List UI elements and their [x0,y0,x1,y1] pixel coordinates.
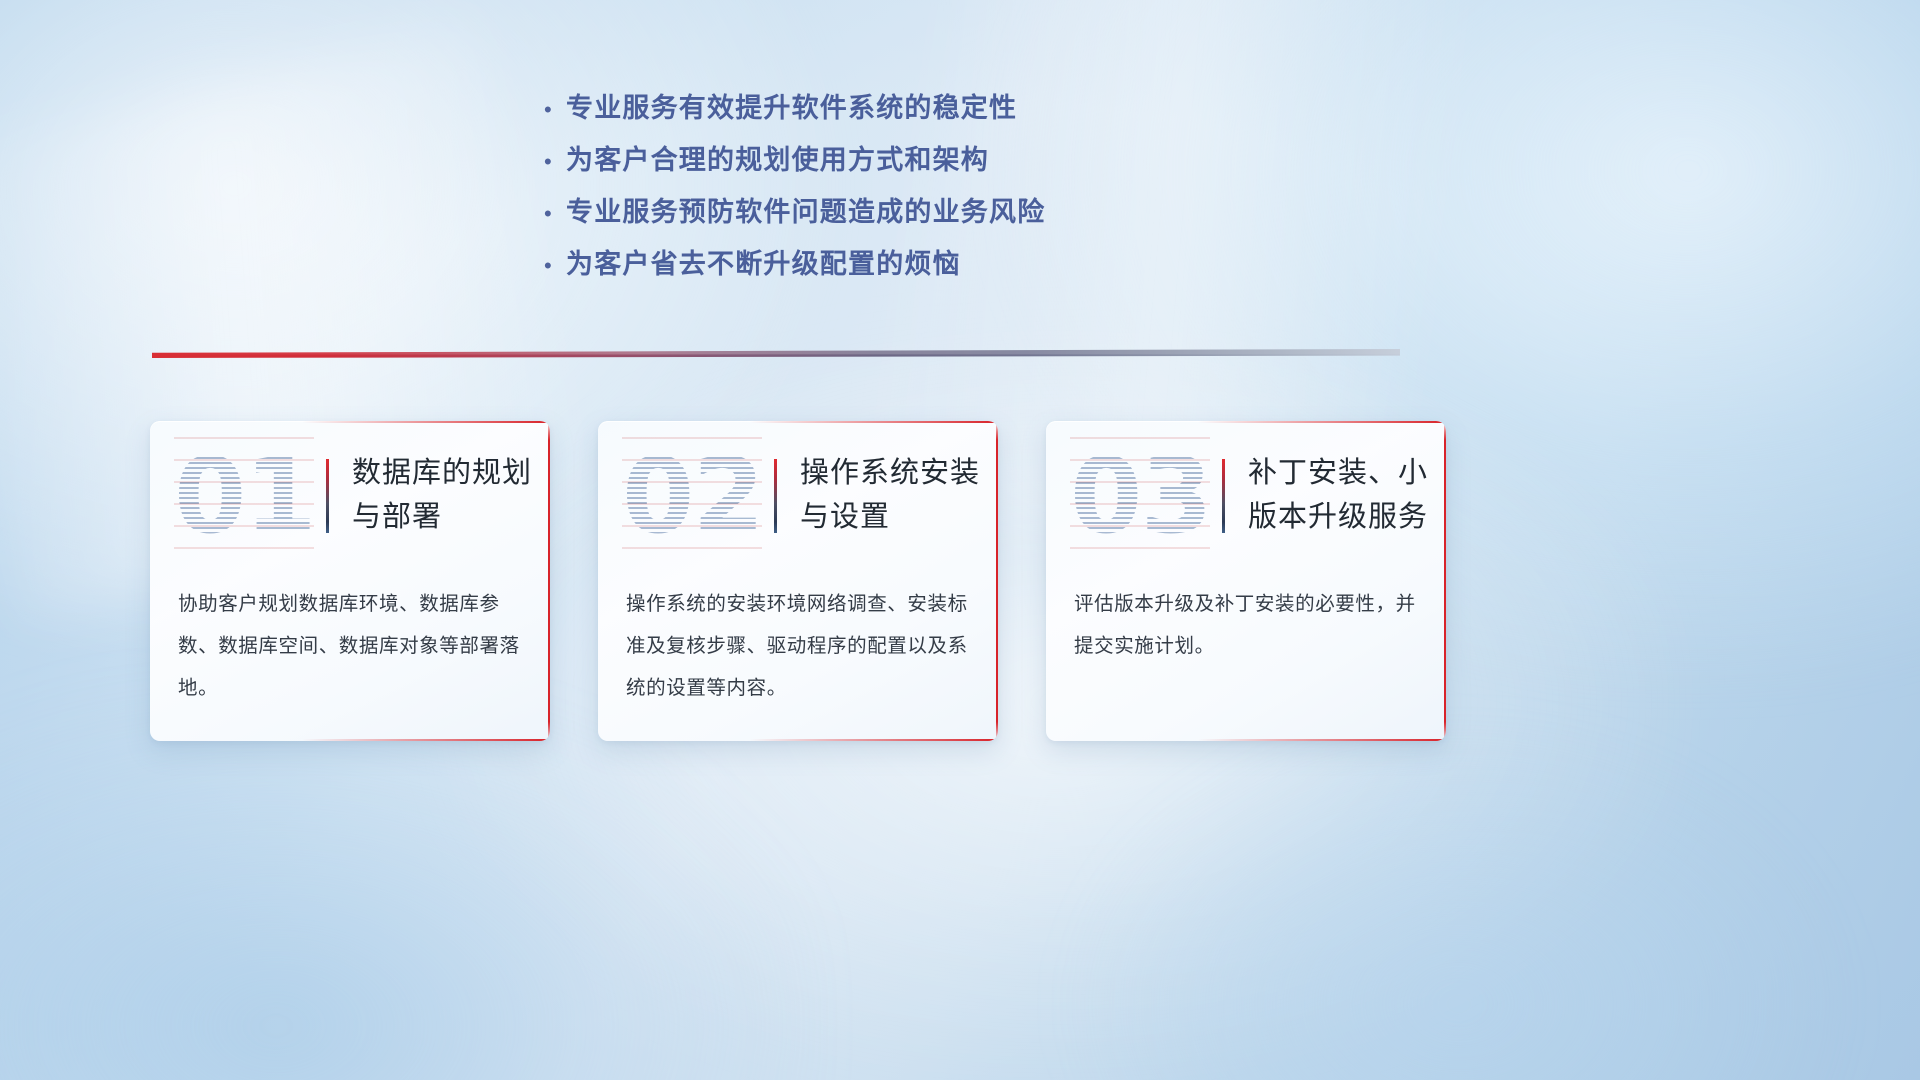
card-header: 03 补丁安装、小版本升级服务 [1046,421,1446,573]
bullet-item: • 为客户合理的规划使用方式和架构 [540,138,1240,190]
card-description: 操作系统的安装环境网络调查、安装标准及复核步骤、驱动程序的配置以及系统的设置等内… [626,583,970,709]
bullet-marker-icon: • [540,255,566,277]
card-description: 评估版本升级及补丁安装的必要性，并提交实施计划。 [1074,583,1418,667]
bullet-marker-icon: • [540,151,566,173]
card-title: 操作系统安装与设置 [800,451,986,539]
service-card-list: 01 数据库的规划与部署 协助客户规划数据库环境、数据库参数、数据库空间、数据库… [150,421,1446,741]
card-index-number: 03 [1070,437,1210,555]
card-index-number: 02 [622,437,762,555]
bullet-item-label: 专业服务有效提升软件系统的稳定性 [566,86,1017,125]
bullet-marker-icon: • [540,99,566,121]
service-card[interactable]: 03 补丁安装、小版本升级服务 评估版本升级及补丁安装的必要性，并提交实施计划。 [1046,421,1446,741]
card-index-number: 01 [174,437,314,555]
card-title-accent-bar [1222,459,1225,533]
card-title-accent-bar [774,459,777,533]
card-accent-border-bottom [1198,739,1446,741]
card-header: 02 操作系统安装与设置 [598,421,998,573]
benefits-bullet-list: • 专业服务有效提升软件系统的稳定性 • 为客户合理的规划使用方式和架构 • 专… [540,86,1240,294]
card-title: 数据库的规划与部署 [352,451,538,539]
service-card[interactable]: 01 数据库的规划与部署 协助客户规划数据库环境、数据库参数、数据库空间、数据库… [150,421,550,741]
card-title-accent-bar [326,459,329,533]
card-accent-border-bottom [302,739,550,741]
card-header: 01 数据库的规划与部署 [150,421,550,573]
bullet-item: • 为客户省去不断升级配置的烦恼 [540,242,1240,294]
card-description: 协助客户规划数据库环境、数据库参数、数据库空间、数据库对象等部署落地。 [178,583,522,709]
bullet-item: • 专业服务有效提升软件系统的稳定性 [540,86,1240,138]
card-accent-border-bottom [750,739,998,741]
bullet-item-label: 为客户合理的规划使用方式和架构 [566,138,989,177]
bullet-marker-icon: • [540,203,566,225]
card-title: 补丁安装、小版本升级服务 [1248,451,1434,539]
section-divider [152,349,1400,363]
bullet-item-label: 为客户省去不断升级配置的烦恼 [566,242,961,281]
bullet-item-label: 专业服务预防软件问题造成的业务风险 [566,190,1045,229]
service-card[interactable]: 02 操作系统安装与设置 操作系统的安装环境网络调查、安装标准及复核步骤、驱动程… [598,421,998,741]
bullet-item: • 专业服务预防软件问题造成的业务风险 [540,190,1240,242]
